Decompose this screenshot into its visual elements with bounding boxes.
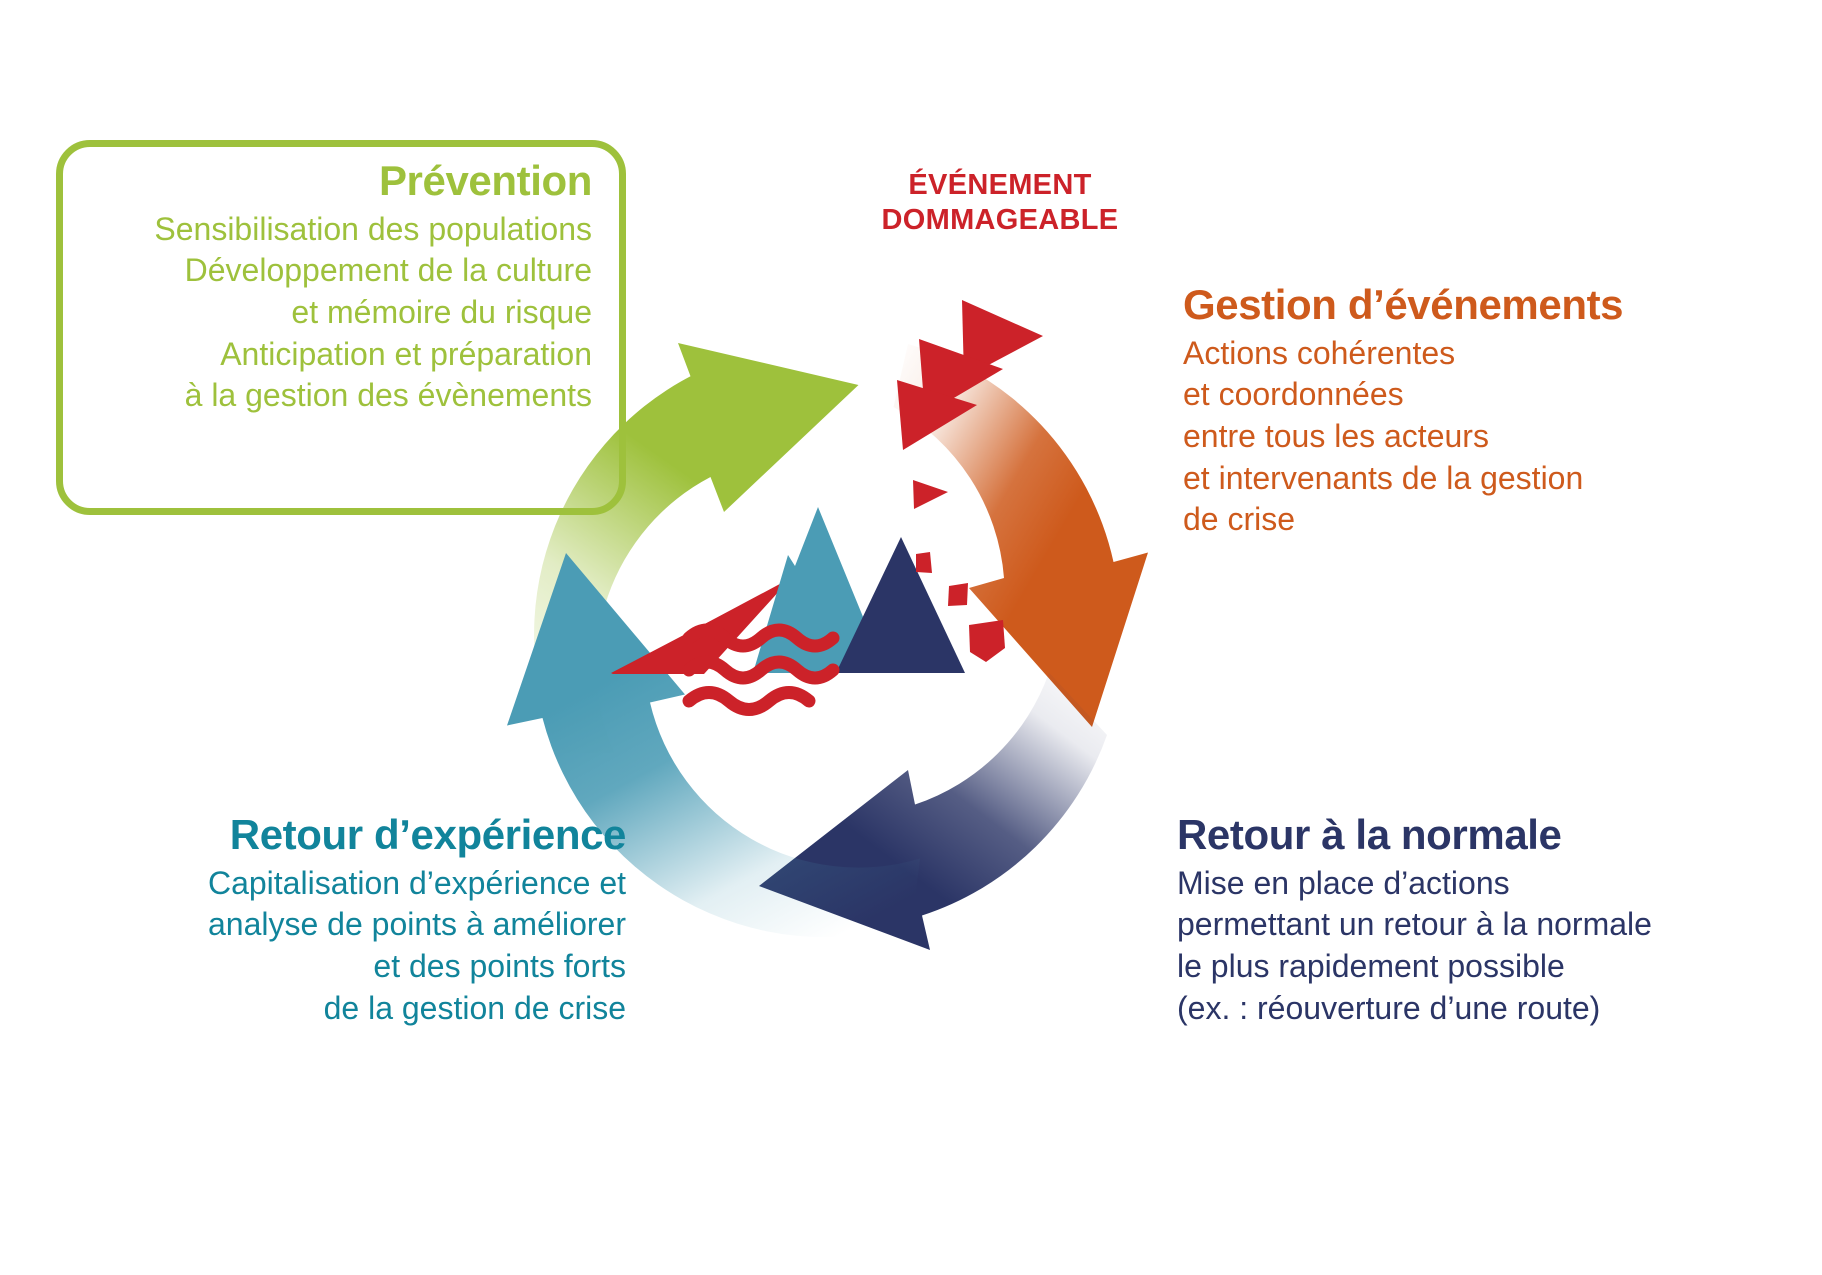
damaging-event-label: ÉVÉNEMENT DOMMAGEABLE [760,168,1240,239]
prevention-line-2: Développement de la culture [56,250,592,292]
gestion-arrow [894,344,1149,727]
gestion-line-2: et coordonnées [1183,374,1803,416]
stage-prevention: Prévention Sensibilisation des populatio… [56,160,626,417]
gestion-line-1: Actions cohérentes [1183,333,1803,375]
event-arrow-2 [919,339,1003,415]
rex-line-3: et des points forts [30,946,626,988]
gestion-title: Gestion d’événements [1183,284,1803,327]
wave-2 [689,662,833,678]
rex-line-2: analyse de points à améliorer [30,904,626,946]
normale-line-1: Mise en place d’actions [1177,863,1817,905]
rex-title: Retour d’expérience [30,814,626,857]
stage-retour-experience: Retour d’expérience Capitalisation d’exp… [30,814,626,1029]
gestion-line-3: entre tous les acteurs [1183,416,1803,458]
prevention-line-5: à la gestion des évènements [56,375,592,417]
rock-fragment-1 [916,552,932,573]
normale-line-3: le plus rapidement possible [1177,946,1817,988]
rex-line-1: Capitalisation d’expérience et [30,863,626,905]
red-slope-shape-2 [611,578,791,674]
event-arrow-1 [962,300,1043,378]
stage-retour-normale: Retour à la normale Mise en place d’acti… [1177,814,1817,1029]
damaging-event-arrows [897,300,1043,509]
rock-fragment-2 [948,583,968,606]
diagram-canvas: Prévention Sensibilisation des populatio… [0,0,1822,1275]
normale-line-4: (ex. : réouverture d’une route) [1177,988,1817,1030]
event-label-line-1: ÉVÉNEMENT [760,168,1240,203]
red-waves [689,630,833,710]
stage-gestion-evenements: Gestion d’événements Actions cohérentes … [1183,284,1803,541]
gestion-line-4: et intervenants de la gestion [1183,458,1803,500]
normale-title: Retour à la normale [1177,814,1817,857]
normale-line-2: permettant un retour à la normale [1177,904,1817,946]
navy-mountain-shape [836,537,965,673]
prevention-title: Prévention [56,160,592,203]
mountains-flood-icon [610,507,1005,710]
retour-normale-arrow [759,673,1107,951]
rex-line-4: de la gestion de crise [30,988,626,1030]
teal-mountain-shape [753,507,886,673]
prevention-line-3: et mémoire du risque [56,292,592,334]
rock-fragment-3 [969,620,1005,662]
event-arrow-3 [897,380,977,450]
event-arrow-4 [913,480,948,509]
gestion-line-5: de crise [1183,499,1803,541]
wave-1 [689,630,833,646]
prevention-line-1: Sensibilisation des populations [56,209,592,251]
wave-3 [689,693,809,710]
red-slope-shape [610,580,789,673]
prevention-line-4: Anticipation et préparation [56,334,592,376]
event-label-line-2: DOMMAGEABLE [760,203,1240,238]
